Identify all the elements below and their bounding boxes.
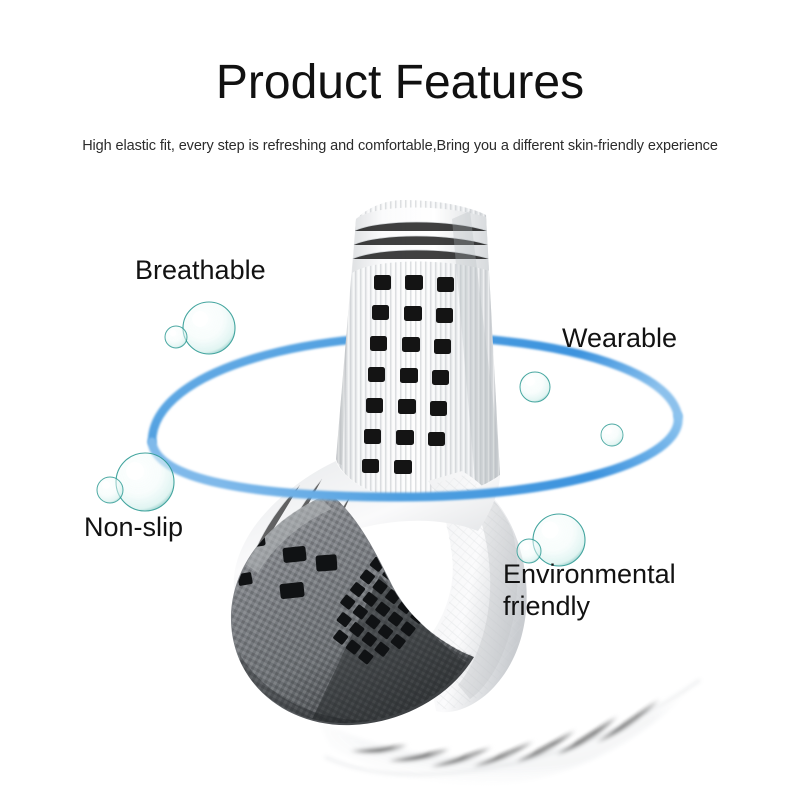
feature-label-breathable: Breathable [135,255,266,287]
bubble-cluster-breathable [165,302,235,354]
bubble-cluster-nonslip [97,453,174,511]
bubble-wearable-large [520,372,550,402]
page-title: Product Features [0,58,800,108]
feature-label-environmental-friendly: Environmental friendly [503,559,676,623]
header: Product Features High elastic fit, every… [0,0,800,175]
bubble-wearable-small [601,424,623,446]
orbit-ring-front [152,416,678,497]
page-subtitle: High elastic fit, every step is refreshi… [0,138,800,154]
feature-label-non-slip: Non-slip [84,512,183,544]
foreground-decoration-layer [0,175,800,800]
product-illustration-stage: Breathable Wearable Non-slip Environment… [0,175,800,800]
feature-label-wearable: Wearable [562,323,677,355]
product-features-infographic: Product Features High elastic fit, every… [0,0,800,800]
